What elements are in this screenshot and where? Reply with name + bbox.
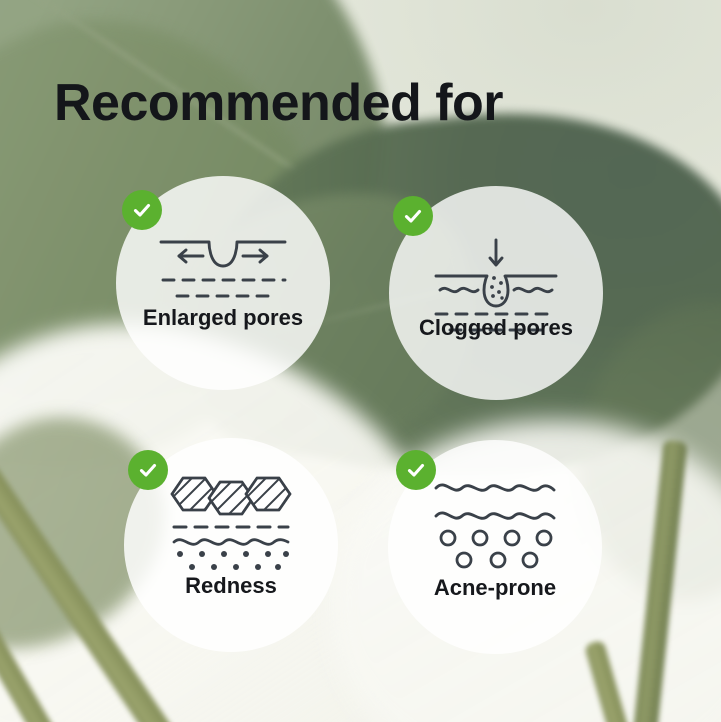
acne-ring-row-1 <box>441 531 551 545</box>
card-clogged-pores[interactable]: Clogged pores <box>389 186 603 400</box>
check-badge-clogged-pores <box>393 196 433 236</box>
check-icon <box>137 459 159 481</box>
card-label-acne-prone: Acne-prone <box>388 574 602 602</box>
card-acne-prone[interactable]: Acne-prone <box>388 440 602 654</box>
card-label-redness: Redness <box>124 572 338 600</box>
card-redness[interactable]: Redness <box>124 438 338 652</box>
recommended-for-poster: Recommended for <box>0 0 721 722</box>
clog-dots <box>490 276 504 300</box>
acne-ring-row-2 <box>457 553 537 567</box>
benefit-card-grid: Enlarged pores <box>0 0 721 722</box>
enlarged-pore-icon <box>116 228 330 302</box>
card-label-clogged-pores: Clogged pores <box>389 314 603 342</box>
card-label-enlarged-pores: Enlarged pores <box>116 304 330 332</box>
check-icon <box>402 205 424 227</box>
card-enlarged-pores[interactable]: Enlarged pores <box>116 176 330 390</box>
check-badge-enlarged-pores <box>122 190 162 230</box>
check-badge-redness <box>128 450 168 490</box>
check-badge-acne-prone <box>396 450 436 490</box>
redness-dots <box>177 551 289 570</box>
check-icon <box>131 199 153 221</box>
check-icon <box>405 459 427 481</box>
